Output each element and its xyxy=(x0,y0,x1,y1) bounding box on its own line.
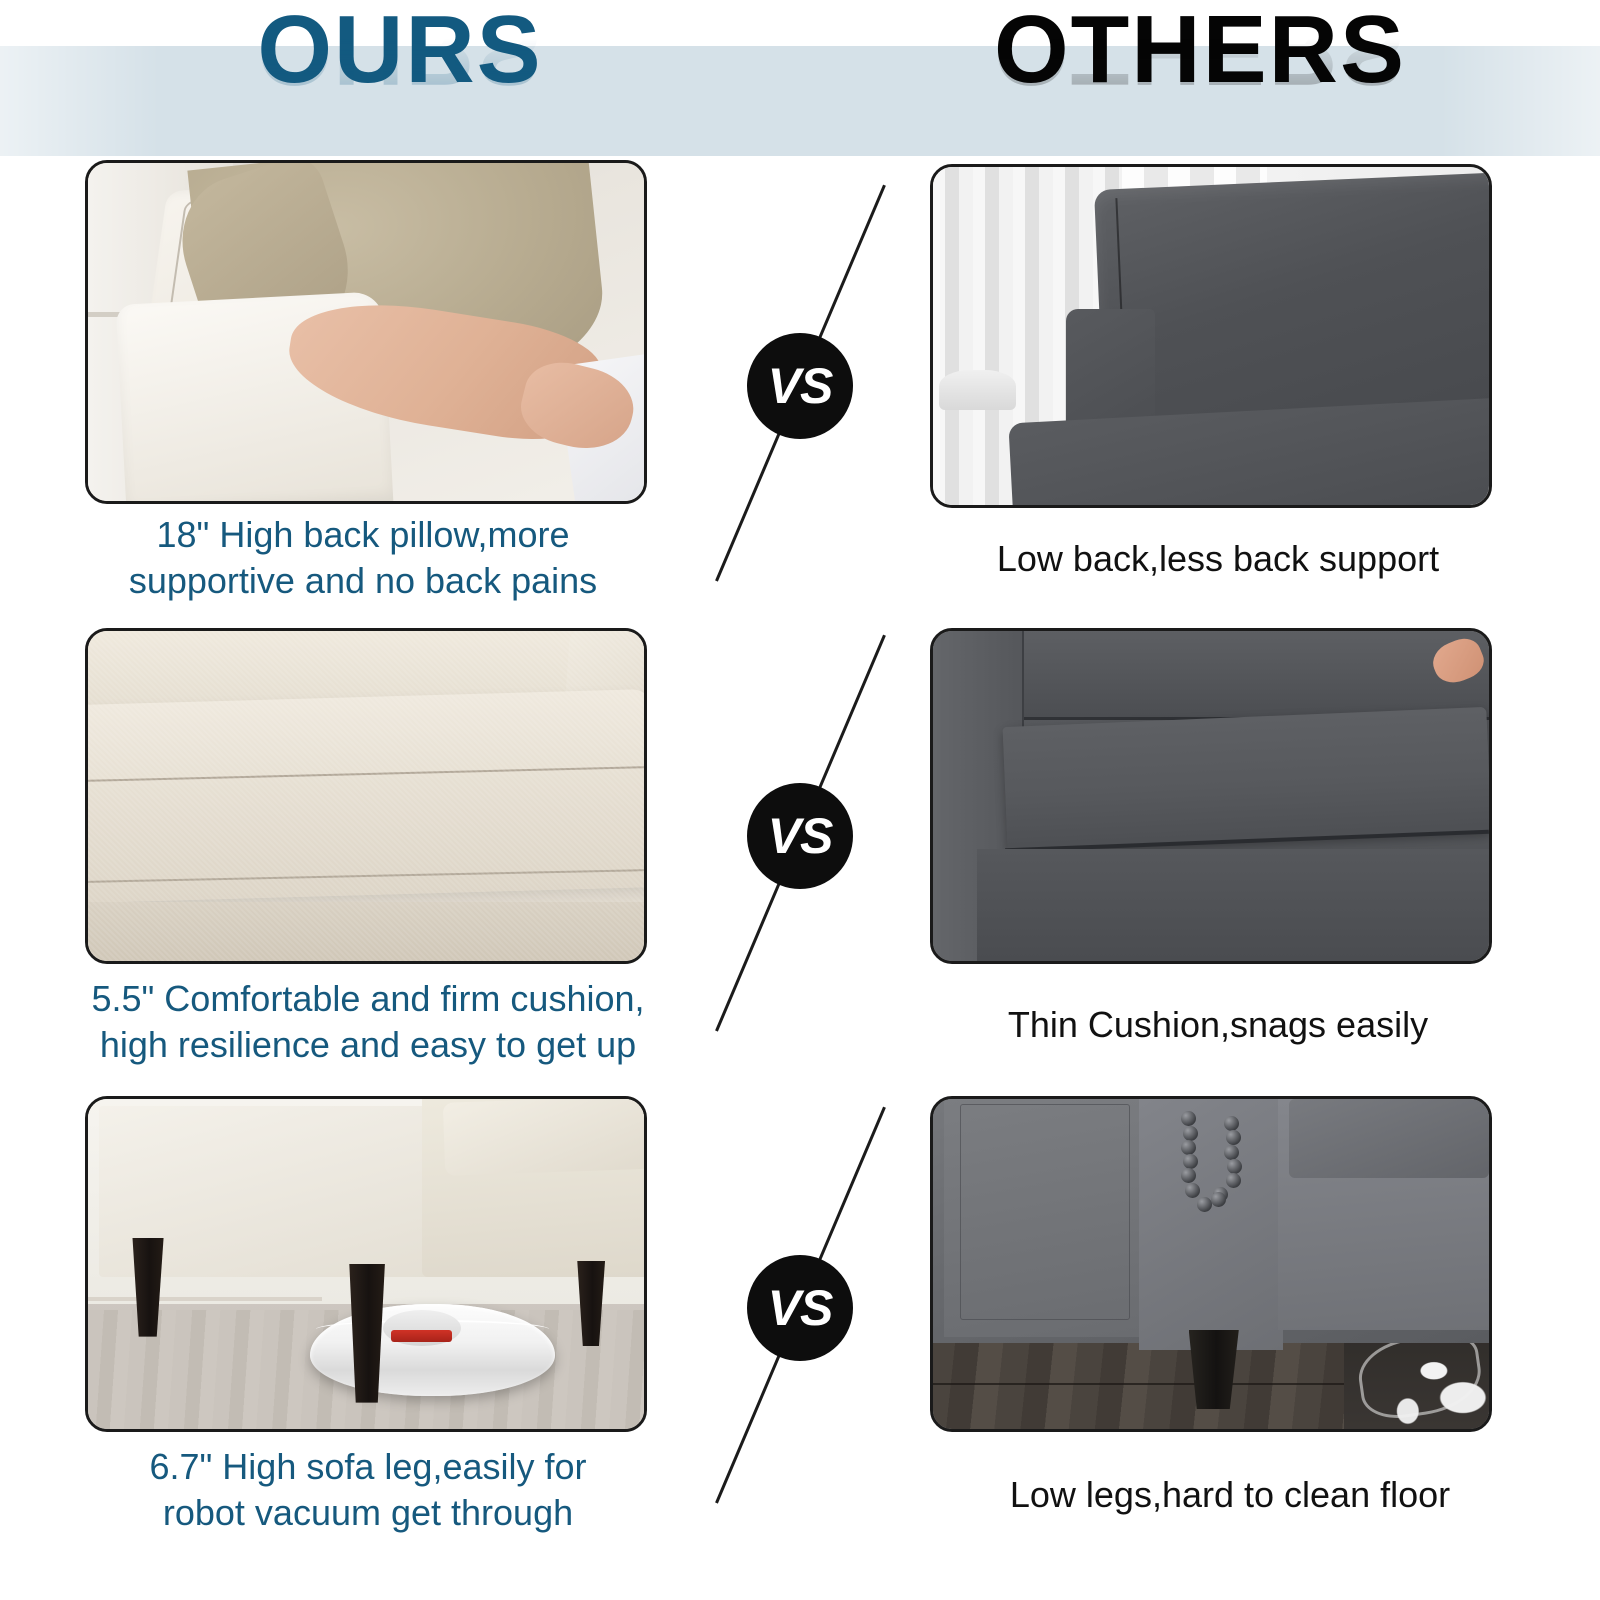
nailhead-stud-icon xyxy=(1224,1145,1239,1160)
others-caption-2: Thin Cushion,snags easily xyxy=(900,1002,1536,1048)
header-others: OTHERS OTHERS xyxy=(800,0,1600,156)
header-others-wrap: OTHERS OTHERS xyxy=(994,0,1406,101)
photo-back-cushion xyxy=(443,1096,647,1175)
nailhead-stud-icon xyxy=(1226,1130,1241,1145)
photo-thin-cushion xyxy=(1003,707,1492,853)
ours-photo-1-highback-pillow xyxy=(88,163,644,501)
ours-photo-card-2 xyxy=(85,628,647,964)
nailhead-stud-icon xyxy=(1183,1126,1198,1141)
others-photo-card-1 xyxy=(930,164,1492,508)
photo-back-cushion xyxy=(1289,1099,1489,1178)
photo-sofa-base xyxy=(977,849,1489,961)
vs-label-2: VS xyxy=(768,811,833,861)
photo-side-table xyxy=(939,370,1017,411)
nailhead-stud-icon xyxy=(1224,1116,1239,1131)
vs-divider-2: VS xyxy=(700,618,900,1048)
robot-vacuum-red-sensor xyxy=(391,1330,452,1342)
nailhead-stud-icon xyxy=(1211,1192,1226,1207)
header-others-label: OTHERS xyxy=(994,0,1406,101)
header-ours-label: OURS xyxy=(257,0,542,101)
ours-photo-2-thick-cushion xyxy=(88,631,644,961)
vs-divider-1: VS xyxy=(700,168,900,598)
photo-fabric-texture xyxy=(88,631,644,961)
vs-label-1: VS xyxy=(768,361,833,411)
nailhead-stud-icon xyxy=(1181,1111,1196,1126)
others-photo-3-low-legs xyxy=(933,1099,1489,1429)
vs-badge-1: VS xyxy=(747,333,853,439)
nailhead-stud-icon xyxy=(1226,1173,1241,1188)
photo-baseboard xyxy=(88,1297,322,1301)
vs-badge-3: VS xyxy=(747,1255,853,1361)
nailhead-stud-icon xyxy=(1181,1168,1196,1183)
nailhead-stud-icon xyxy=(1183,1154,1198,1169)
ours-photo-3-high-legs-robot-vacuum xyxy=(88,1099,644,1429)
others-photo-1-low-back xyxy=(933,167,1489,505)
header-ours-wrap: OURS OURS xyxy=(257,0,542,101)
others-caption-1: Low back,less back support xyxy=(900,536,1536,582)
photo-sofa-back xyxy=(977,631,1489,720)
header-ours: OURS OURS xyxy=(0,0,800,156)
nailhead-stud-icon xyxy=(1181,1140,1196,1155)
ours-photo-card-3 xyxy=(85,1096,647,1432)
photo-sofa-side-panel xyxy=(944,1099,1146,1337)
others-photo-card-2 xyxy=(930,628,1492,964)
others-caption-3: Low legs,hard to clean floor xyxy=(900,1472,1560,1518)
nailhead-stud-icon xyxy=(1185,1183,1200,1198)
vs-divider-3: VS xyxy=(700,1090,900,1520)
ours-caption-2: 5.5" Comfortable and firm cushion, high … xyxy=(12,976,724,1068)
ours-photo-card-1 xyxy=(85,160,647,504)
ours-caption-1: 18" High back pillow,more supportive and… xyxy=(45,512,681,604)
others-photo-card-3 xyxy=(930,1096,1492,1432)
nailhead-stud-icon xyxy=(1197,1197,1212,1212)
nailhead-stud-icon xyxy=(1227,1159,1242,1174)
vs-label-3: VS xyxy=(768,1283,833,1333)
nailhead-studs-group xyxy=(1178,1109,1267,1228)
ours-caption-3: 6.7" High sofa leg,easily for robot vacu… xyxy=(50,1444,686,1536)
vs-badge-2: VS xyxy=(747,783,853,889)
others-photo-2-thin-cushion xyxy=(933,631,1489,961)
